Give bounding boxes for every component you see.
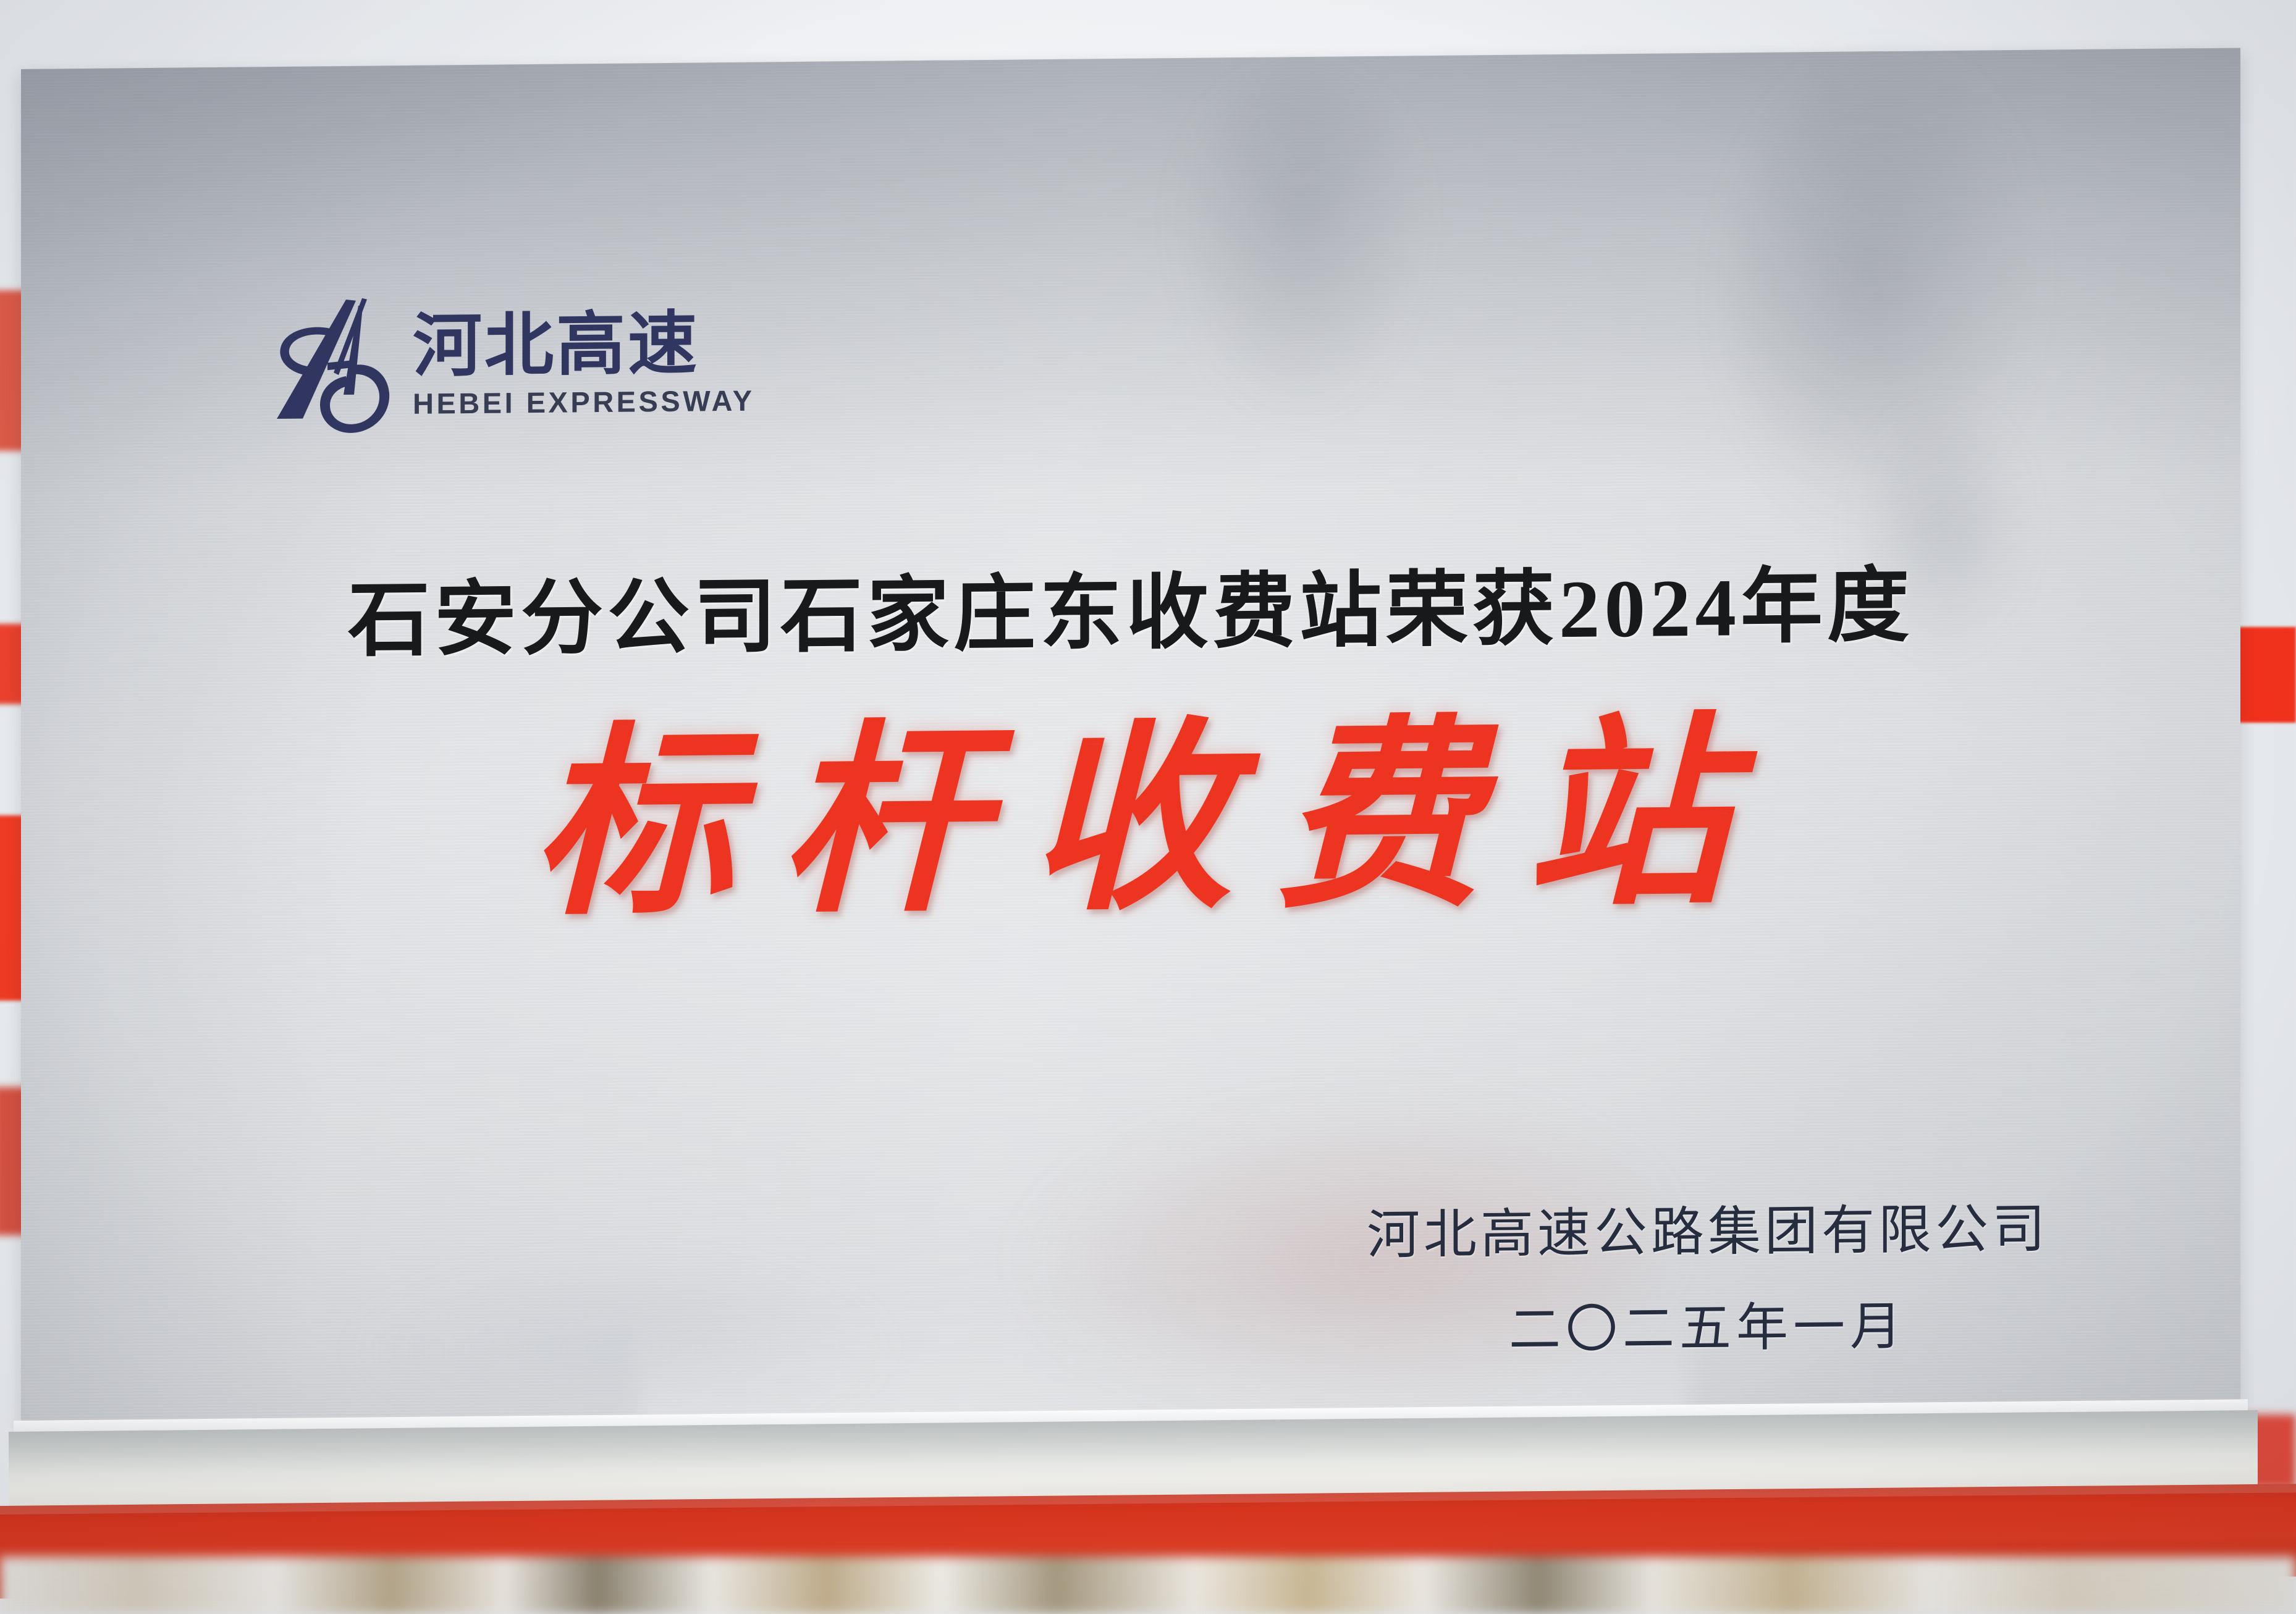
plaque-content: 河北高速 HEBEI EXPRESSWAY 石安分公司石家庄东收费站荣获2024… [21, 48, 2240, 1428]
signature-block: 河北高速公路集团有限公司 二〇二五年一月 [1367, 1185, 2049, 1364]
logo-english-name: HEBEI EXPRESSWAY [413, 383, 754, 420]
plaque-heading: 石安分公司石家庄东收费站荣获2024年度 [21, 536, 2240, 676]
blurred-foreground-objects [0, 1557, 2296, 1614]
photo-scene: 河北高速 HEBEI EXPRESSWAY 石安分公司石家庄东收费站荣获2024… [0, 0, 2296, 1614]
award-title: 标杆收费站 [21, 709, 2240, 934]
hebei-expressway-logo: 河北高速 HEBEI EXPRESSWAY [274, 292, 754, 437]
logo-wordmark: 河北高速 HEBEI EXPRESSWAY [413, 308, 754, 421]
award-plaque: 河北高速 HEBEI EXPRESSWAY 石安分公司石家庄东收费站荣获2024… [21, 48, 2240, 1428]
issuing-organization: 河北高速公路集团有限公司 [1367, 1185, 2049, 1269]
hebei-expressway-monogram-icon [274, 295, 392, 437]
logo-chinese-name: 河北高速 [413, 308, 754, 383]
issue-date: 二〇二五年一月 [1367, 1283, 2049, 1364]
